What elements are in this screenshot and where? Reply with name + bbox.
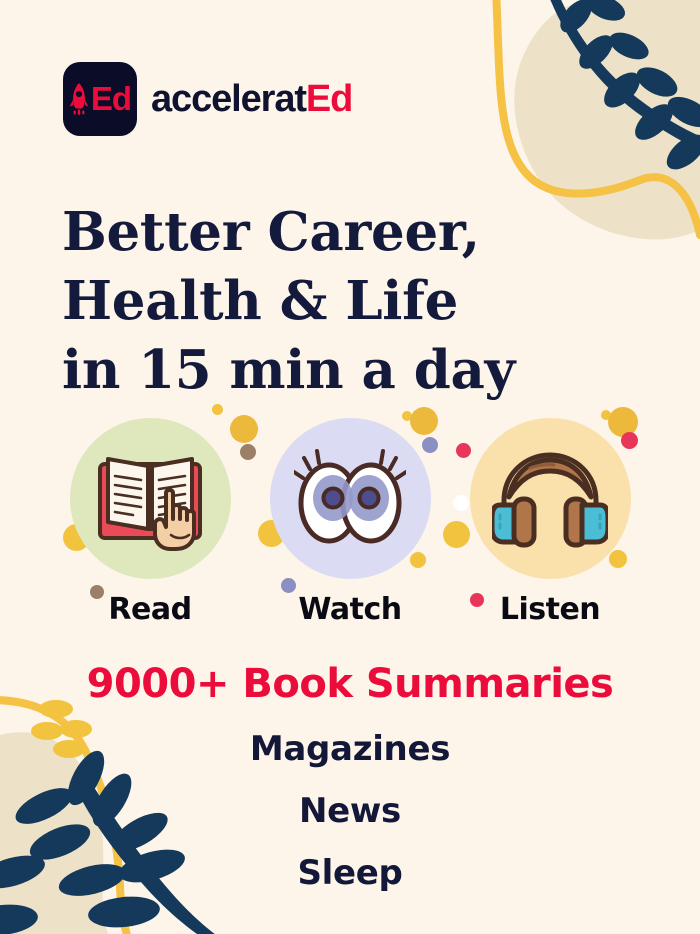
feature-read-circle [70,418,231,579]
page-title: Better Career, Health & Life in 15 min a… [62,198,515,406]
feature-watch[interactable]: Watch [267,418,434,625]
yellow-curve-top [496,0,700,235]
offer-item-news: News [0,794,700,828]
headline-line-1: Better Career, [62,198,515,267]
offer-item-sleep: Sleep [0,856,700,890]
beige-blob-top-right [514,0,700,240]
feature-read[interactable]: Read [67,418,234,625]
open-book-with-pointing-hand-icon [92,447,208,551]
brand-logo[interactable]: Ed acceleratEd [63,62,352,136]
logo-mark-text: Ed [91,82,131,115]
wordmark-accent: Ed [306,78,352,120]
offer-item-magazines: Magazines [0,732,700,766]
rocket-icon [69,82,89,116]
headphones-icon [492,447,608,551]
offer-list: 9000+ Book Summaries Magazines News Slee… [0,664,700,890]
beige-ellipse-right [570,126,700,231]
pair-of-eyes-icon [294,445,406,553]
offer-headline: 9000+ Book Summaries [0,664,700,704]
feature-watch-circle [270,418,431,579]
headline-line-3: in 15 min a day [62,336,515,405]
promo-poster: Ed acceleratEd Better Career, Health & L… [0,0,700,934]
headline-line-2: Health & Life [62,267,515,336]
logo-mark: Ed [63,62,137,136]
feature-listen-label: Listen [500,595,600,625]
feature-watch-label: Watch [298,595,401,625]
feature-read-label: Read [108,595,191,625]
feature-listen-circle [470,418,631,579]
feature-row: Read [0,418,700,625]
leaf-branch-top-right [548,0,700,176]
feature-listen[interactable]: Listen [467,418,634,625]
brand-wordmark: acceleratEd [151,80,352,118]
wordmark-prefix: accelerat [151,78,306,120]
